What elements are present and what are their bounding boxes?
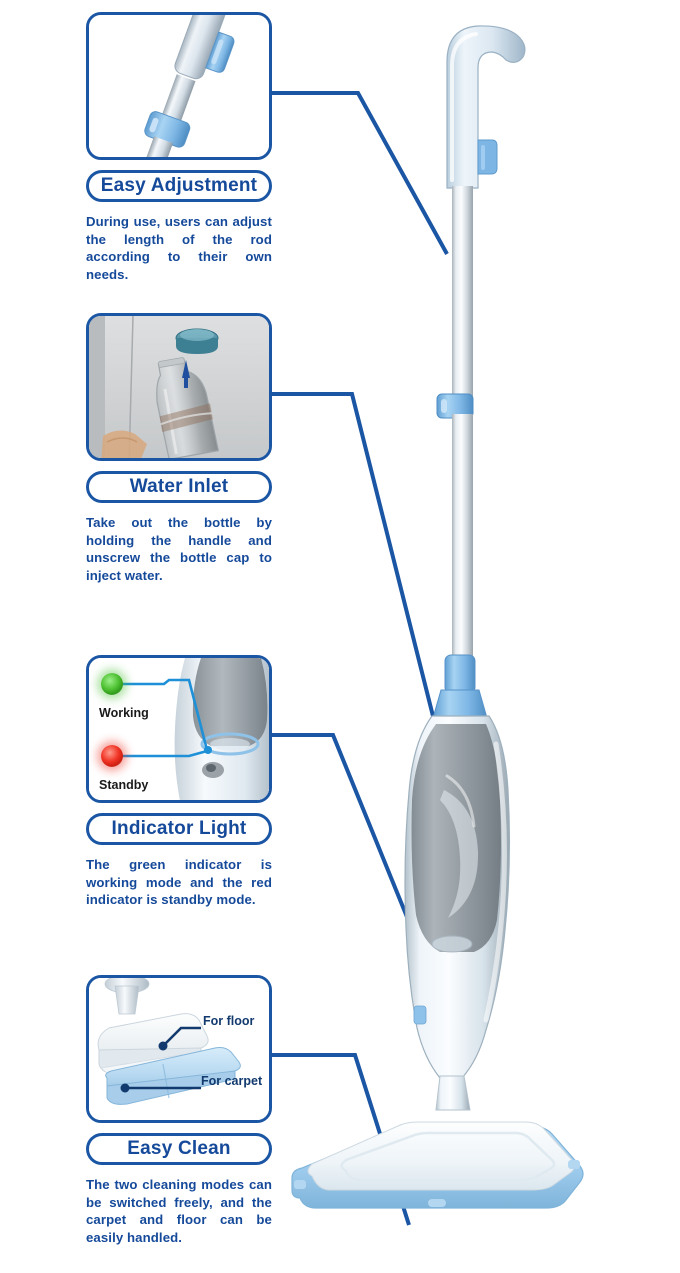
connector-easy-adjustment (272, 93, 447, 254)
bottle-cap (176, 329, 218, 354)
water-tank-body (405, 716, 509, 1078)
swivel-joint (436, 1076, 470, 1110)
feature-indicator-light: Working Standby Indicator Light The gree… (86, 655, 272, 909)
photo-indicator-light: Working Standby (86, 655, 272, 803)
telescoping-pole-lower (452, 414, 473, 658)
led-label-working: Working (99, 706, 149, 720)
title-pill-indicator-light: Indicator Light (86, 813, 272, 845)
led-green (101, 673, 123, 695)
led-label-standby: Standby (99, 778, 148, 792)
feature-title: Easy Adjustment (101, 175, 257, 197)
feature-easy-clean: For floor For carpet Easy Clean The two … (86, 975, 272, 1247)
pad-label-for-carpet: For carpet (201, 1074, 262, 1088)
connector-indicator-light (272, 735, 418, 944)
photo-easy-adjustment (86, 12, 272, 160)
rod-illustration (123, 15, 248, 160)
handle-clip (478, 140, 497, 174)
mop-head-base (292, 1122, 583, 1208)
feature-title: Water Inlet (130, 476, 229, 498)
adjustment-collar (437, 394, 473, 418)
callout-standby (122, 751, 207, 756)
connector-water-inlet (272, 394, 441, 748)
led-red (101, 745, 123, 767)
feature-description: During use, users can adjust the length … (86, 213, 272, 284)
title-pill-easy-clean: Easy Clean (86, 1133, 272, 1165)
photo-easy-clean: For floor For carpet (86, 975, 272, 1123)
feature-title: Easy Clean (127, 1138, 230, 1160)
hook-handle (447, 26, 525, 188)
title-pill-easy-adjustment: Easy Adjustment (86, 170, 272, 202)
pad-label-for-floor: For floor (203, 1014, 254, 1028)
feature-description: Take out the bottle by holding the handl… (86, 514, 272, 585)
feature-water-inlet: Water Inlet Take out the bottle by holdi… (86, 313, 272, 585)
power-button (414, 1006, 426, 1024)
photo-water-inlet (86, 313, 272, 461)
tank-window (412, 724, 502, 952)
telescoping-pole-upper (452, 186, 473, 402)
feature-description: The green indicator is working mode and … (86, 856, 272, 909)
infographic-canvas: Easy Adjustment During use, users can ad… (0, 0, 680, 1273)
lower-collar (433, 655, 487, 718)
feature-title: Indicator Light (112, 818, 247, 840)
feature-description: The two cleaning modes can be switched f… (86, 1176, 272, 1247)
feature-easy-adjustment: Easy Adjustment During use, users can ad… (86, 12, 272, 284)
title-pill-water-inlet: Water Inlet (86, 471, 272, 503)
connector-easy-clean (272, 1055, 409, 1225)
